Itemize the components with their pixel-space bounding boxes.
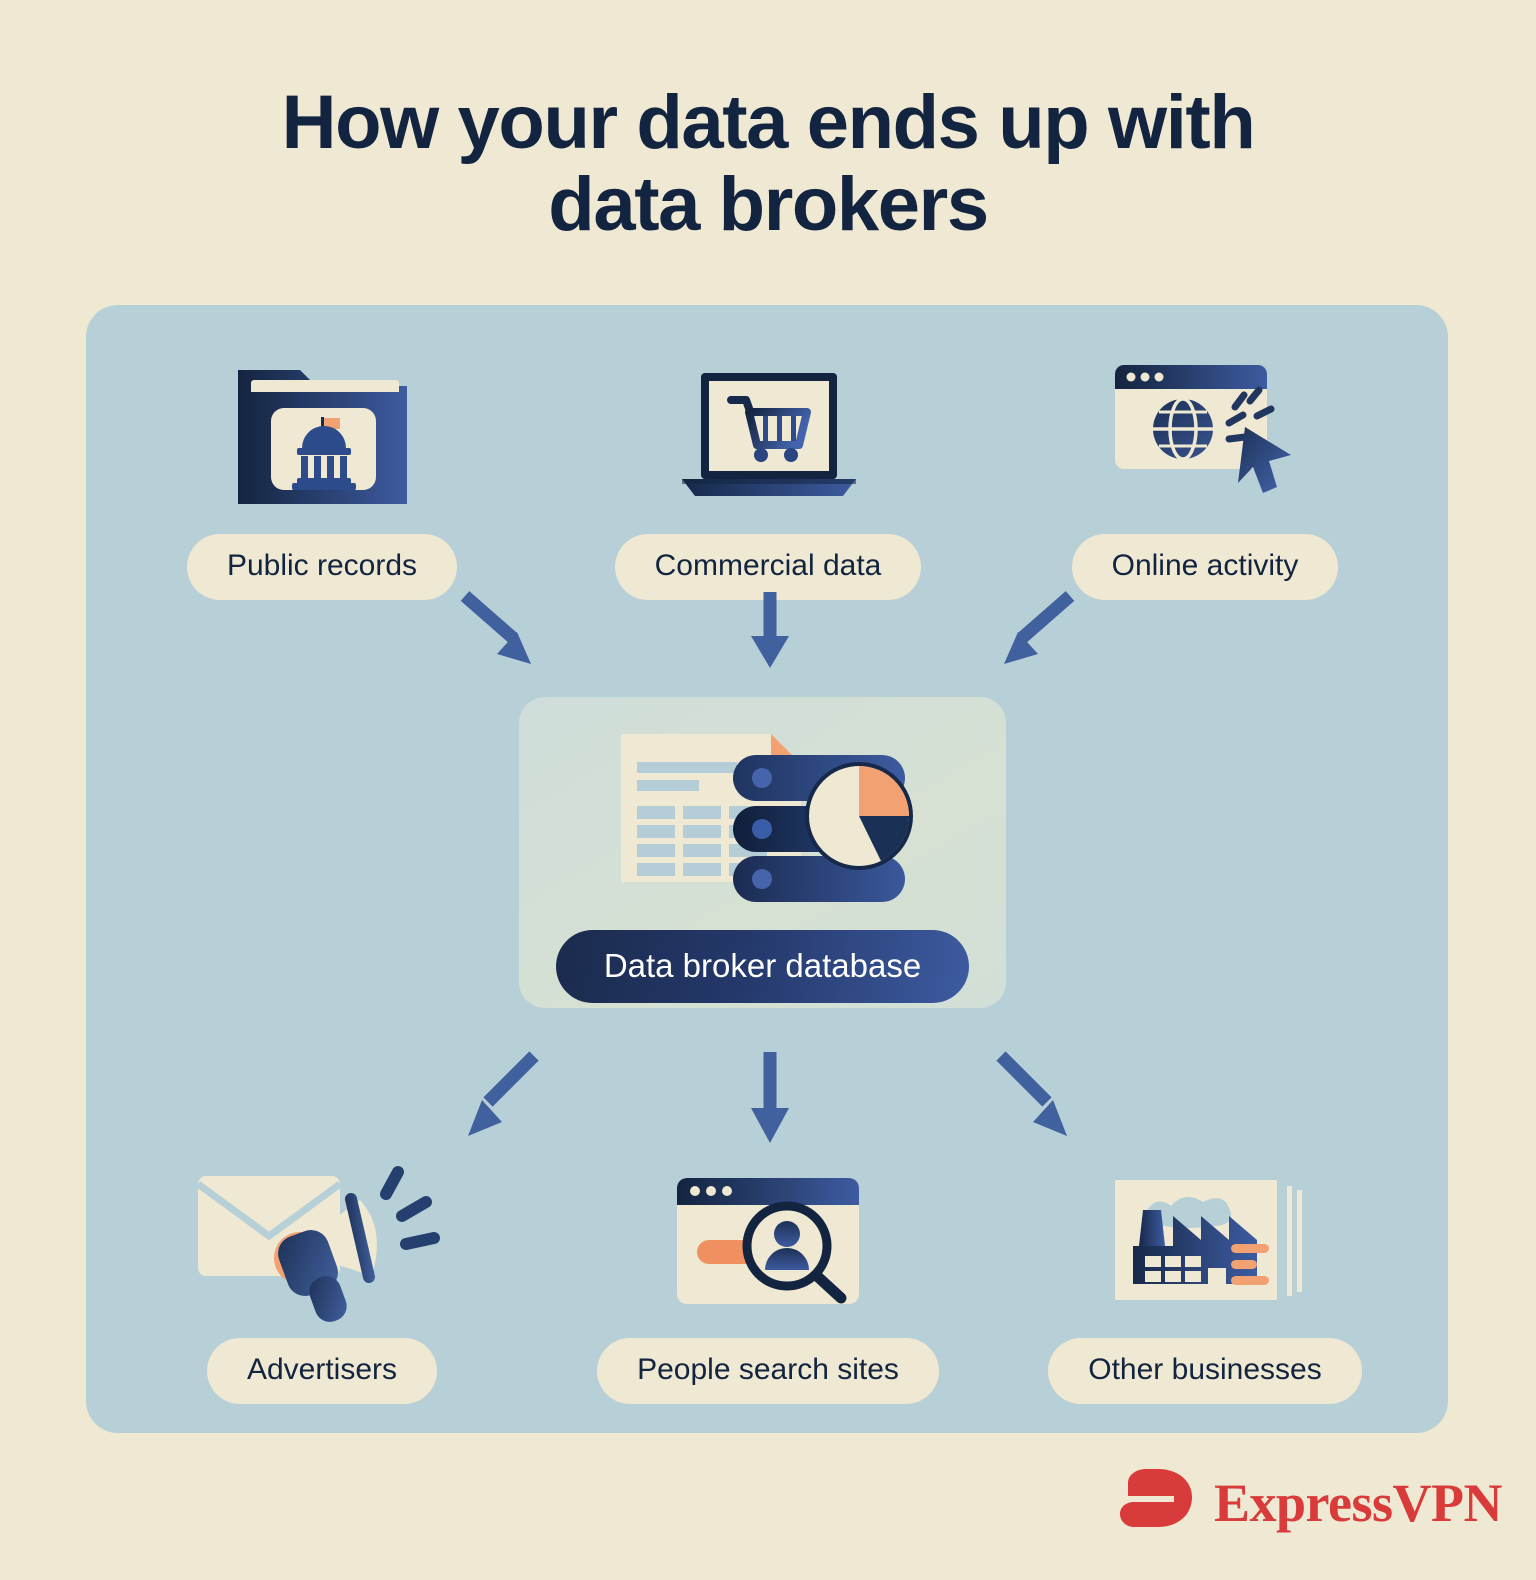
envelope-megaphone-icon (122, 1148, 522, 1318)
folder-government-icon (122, 352, 522, 512)
browser-person-search-icon (568, 1148, 968, 1318)
browser-globe-cursor-icon (1005, 352, 1405, 512)
node-other-businesses: Other businesses (1005, 1148, 1405, 1404)
label-online-activity: Online activity (1072, 534, 1339, 600)
arrow-database-to-people-search-sites (746, 1048, 794, 1148)
node-online-activity: Online activity (1005, 352, 1405, 600)
node-public-records: Public records (122, 352, 522, 600)
label-people-search-sites: People search sites (597, 1338, 939, 1404)
node-commercial-data: Commercial data (568, 352, 968, 600)
infographic-root: How your data ends up with data brokers (0, 0, 1536, 1580)
factory-document-icon (1005, 1148, 1405, 1318)
label-other-businesses: Other businesses (1048, 1338, 1361, 1404)
database-document-piechart-icon (519, 722, 1006, 892)
expressvpn-wordmark: ExpressVPN (1214, 1476, 1502, 1530)
label-data-broker-database: Data broker database (556, 930, 969, 1003)
label-public-records: Public records (187, 534, 457, 600)
arrow-public-records-to-database (455, 588, 545, 678)
expressvpn-logo[interactable]: ExpressVPN (1118, 1467, 1502, 1539)
label-advertisers: Advertisers (207, 1338, 437, 1404)
expressvpn-e-logo-icon (1118, 1467, 1196, 1539)
arrow-commercial-data-to-database (746, 588, 794, 673)
arrow-database-to-advertisers (452, 1048, 547, 1148)
laptop-shopping-cart-icon (568, 352, 968, 512)
node-people-search-sites: People search sites (568, 1148, 968, 1404)
page-title: How your data ends up with data brokers (0, 82, 1536, 246)
arrow-online-activity-to-database (990, 588, 1080, 678)
database-label-wrapper: Data broker database (519, 930, 1006, 1003)
node-advertisers: Advertisers (122, 1148, 522, 1404)
arrow-database-to-other-businesses (988, 1048, 1083, 1148)
